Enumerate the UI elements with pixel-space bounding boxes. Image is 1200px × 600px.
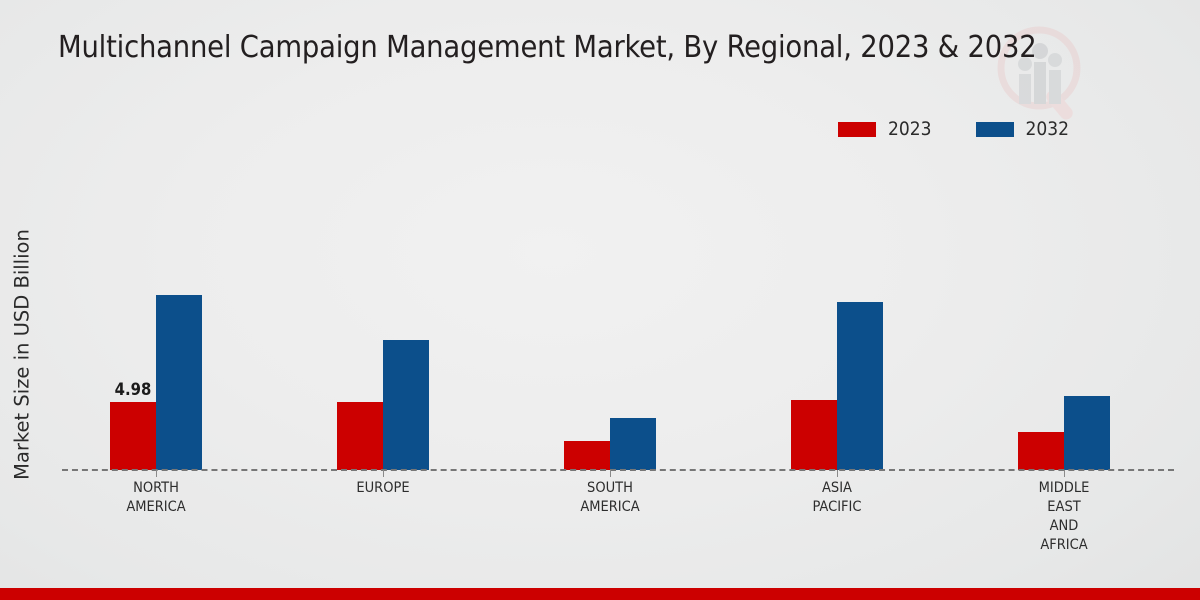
x-axis-label-line: PACIFIC: [747, 498, 927, 517]
x-axis-label-south-america: SOUTHAMERICA: [520, 479, 700, 517]
legend-label-2023: 2023: [888, 120, 932, 139]
legend-item-2023[interactable]: 2023: [838, 120, 932, 139]
bar-2023-asia-pacific[interactable]: [791, 400, 837, 470]
x-axis-label-north-america: NORTHAMERICA: [66, 479, 246, 517]
x-axis-label-line: AFRICA: [974, 536, 1154, 555]
bar-group: 4.98: [110, 295, 202, 470]
bar-2023-europe[interactable]: [337, 402, 383, 470]
x-axis-label-line: EUROPE: [293, 479, 473, 498]
x-axis-tick: [156, 470, 157, 477]
x-axis-label-line: SOUTH: [520, 479, 700, 498]
chart-canvas: Multichannel Campaign Management Market,…: [0, 0, 1200, 600]
legend-swatch-2023: [838, 122, 876, 137]
x-axis-label-europe: EUROPE: [293, 479, 473, 498]
bar-2032-middle-east-and-africa[interactable]: [1064, 396, 1110, 470]
bar-2032-north-america[interactable]: [156, 295, 202, 470]
bar-group: [337, 340, 429, 470]
bar-group: [791, 302, 883, 470]
footer-accent-bar: [0, 588, 1200, 600]
y-axis-title: Market Size in USD Billion: [11, 190, 34, 520]
bar-group: [564, 418, 656, 470]
x-axis-tick: [383, 470, 384, 477]
x-axis-tick: [610, 470, 611, 477]
x-axis-label-line: ASIA: [747, 479, 927, 498]
x-axis-tick: [837, 470, 838, 477]
x-axis-label-line: AMERICA: [66, 498, 246, 517]
bar-2023-south-america[interactable]: [564, 441, 610, 470]
bar-2032-asia-pacific[interactable]: [837, 302, 883, 470]
x-axis-label-line: AND: [974, 517, 1154, 536]
x-axis-label-asia-pacific: ASIAPACIFIC: [747, 479, 927, 517]
bar-2023-north-america[interactable]: 4.98: [110, 402, 156, 470]
bar-2023-middle-east-and-africa[interactable]: [1018, 432, 1064, 470]
bar-2032-south-america[interactable]: [610, 418, 656, 470]
chart-title: Multichannel Campaign Management Market,…: [58, 30, 1148, 65]
legend-swatch-2032: [976, 122, 1014, 137]
x-axis-baseline: [62, 469, 1174, 471]
legend-label-2032: 2032: [1026, 120, 1070, 139]
x-axis-label-line: AMERICA: [520, 498, 700, 517]
x-axis-label-line: EAST: [974, 498, 1154, 517]
x-axis-label-line: NORTH: [66, 479, 246, 498]
bar-2032-europe[interactable]: [383, 340, 429, 470]
x-axis-label-line: MIDDLE: [974, 479, 1154, 498]
bar-group: [1018, 396, 1110, 470]
bar-value-label: 4.98: [115, 380, 152, 399]
x-axis-tick: [1064, 470, 1065, 477]
legend-item-2032[interactable]: 2032: [976, 120, 1070, 139]
x-axis-label-middle-east-and-africa: MIDDLEEASTANDAFRICA: [974, 479, 1154, 555]
plot-area: 4.98: [62, 160, 1170, 470]
chart-legend: 2023 2032: [838, 120, 1069, 139]
